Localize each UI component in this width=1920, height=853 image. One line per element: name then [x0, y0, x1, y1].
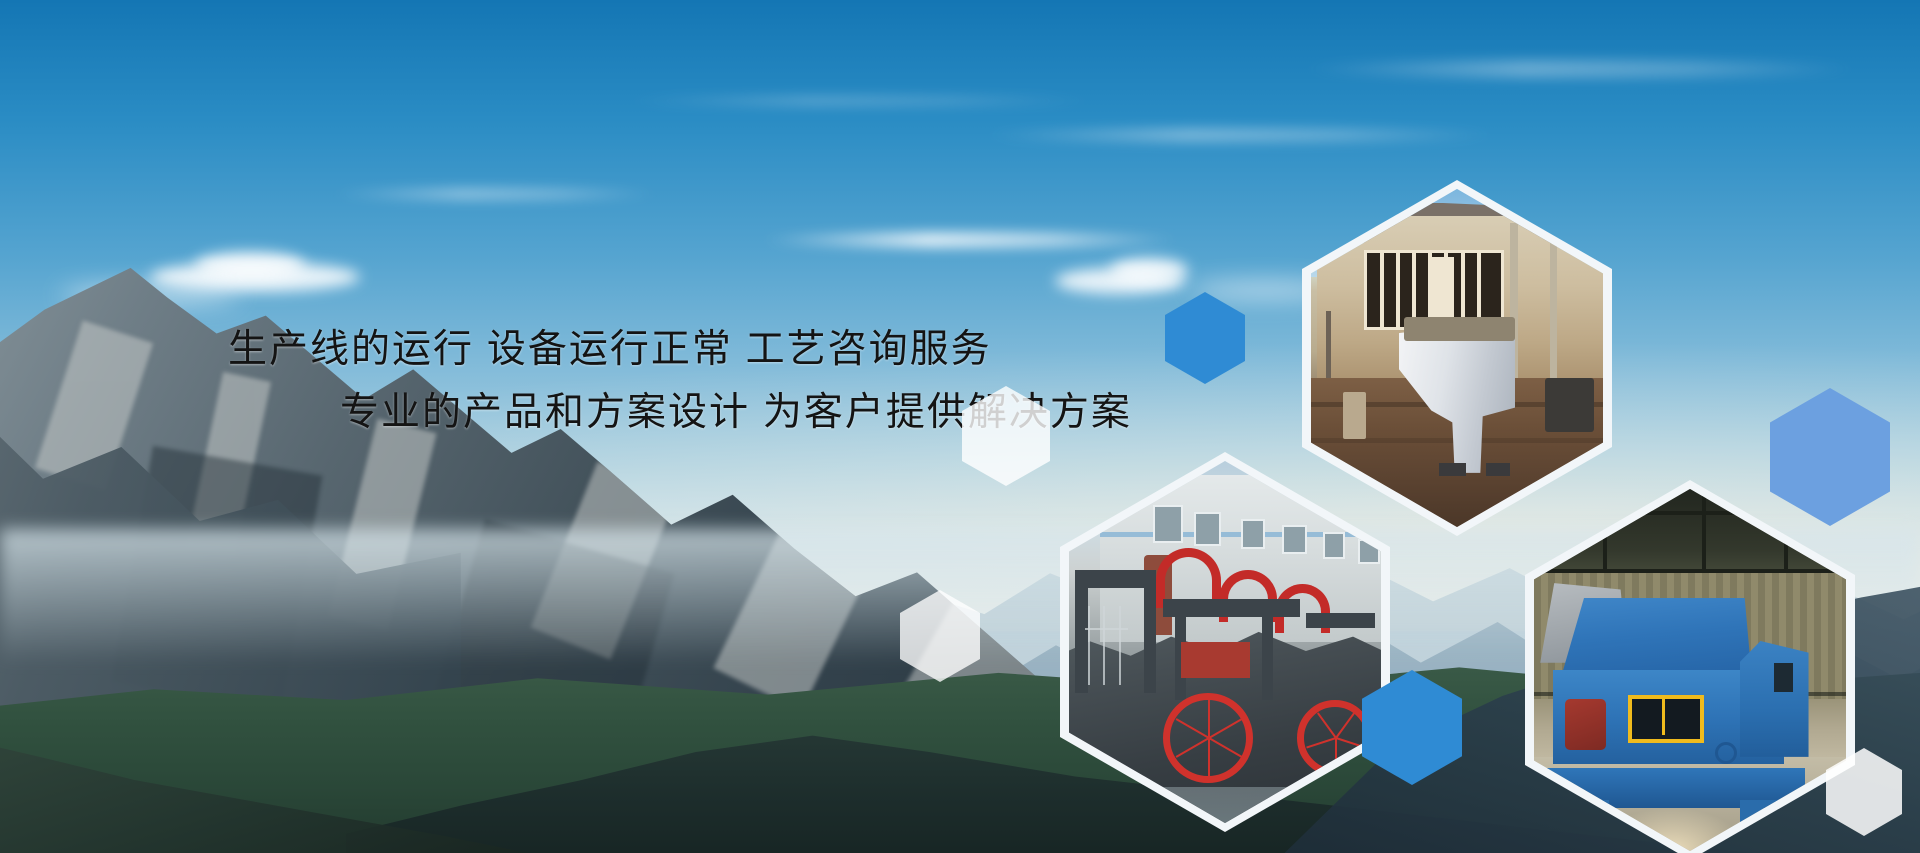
- cloud-wisp: [980, 128, 1500, 142]
- hero-banner: 生产线的运行 设备运行正常 工艺咨询服务 专业的产品和方案设计 为客户提供解决方…: [0, 0, 1920, 853]
- hex-photo-right-image: [1534, 489, 1846, 851]
- hex-photo-top-image: [1311, 189, 1603, 527]
- hex-photo-left-image: [1069, 461, 1381, 823]
- decor-hex-blue-upper-left: [1165, 292, 1245, 384]
- hex-photo-top[interactable]: [1302, 180, 1612, 536]
- hexagon-photo-cluster: [1040, 180, 1920, 853]
- headline-line-1: 生产线的运行 设备运行正常 工艺咨询服务: [0, 318, 1120, 381]
- cloud-wisp: [620, 96, 1100, 106]
- hex-photo-right[interactable]: [1525, 480, 1855, 853]
- headline-line-2: 专业的产品和方案设计 为客户提供解决方案: [0, 381, 1120, 444]
- decor-hex-blue-light-right: [1770, 388, 1890, 526]
- red-handwheel-icon: [1297, 700, 1373, 776]
- cloud-wisp: [330, 188, 660, 200]
- cloud-wisp: [1300, 60, 1860, 78]
- cloud-icon: [195, 252, 305, 278]
- banner-headline: 生产线的运行 设备运行正常 工艺咨询服务 专业的产品和方案设计 为客户提供解决方…: [0, 318, 1120, 444]
- red-handwheel-icon: [1163, 693, 1253, 783]
- hex-photo-left[interactable]: [1060, 452, 1390, 832]
